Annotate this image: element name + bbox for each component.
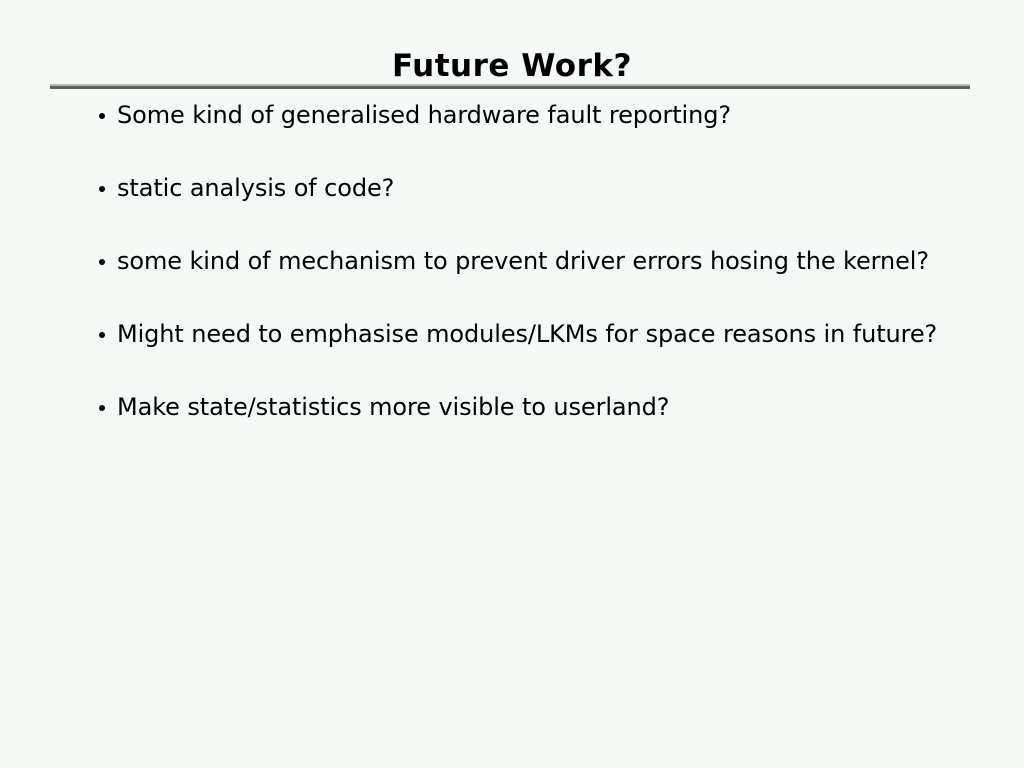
list-item: Might need to emphasise modules/LKMs for… bbox=[96, 319, 996, 392]
bullet-dot-icon bbox=[99, 332, 105, 338]
bullet-dot-icon bbox=[99, 113, 105, 119]
list-item-label: Make state/statistics more visible to us… bbox=[117, 392, 996, 422]
title-divider bbox=[50, 84, 970, 89]
list-item: Some kind of generalised hardware fault … bbox=[96, 100, 996, 173]
list-item: some kind of mechanism to prevent driver… bbox=[96, 246, 996, 319]
list-item-label: static analysis of code? bbox=[117, 173, 996, 203]
bullet-list: Some kind of generalised hardware fault … bbox=[96, 100, 996, 465]
list-item: Make state/statistics more visible to us… bbox=[96, 392, 996, 465]
bullet-dot-icon bbox=[99, 186, 105, 192]
bullet-dot-icon bbox=[99, 259, 105, 265]
list-item-label: some kind of mechanism to prevent driver… bbox=[117, 246, 996, 276]
divider-shadow bbox=[50, 86, 970, 89]
list-item: static analysis of code? bbox=[96, 173, 996, 246]
bullet-dot-icon bbox=[99, 405, 105, 411]
presentation-slide: Future Work? Some kind of generalised ha… bbox=[0, 0, 1024, 768]
list-item-label: Some kind of generalised hardware fault … bbox=[117, 100, 996, 130]
page-title: Future Work? bbox=[0, 47, 1024, 85]
list-item-label: Might need to emphasise modules/LKMs for… bbox=[117, 319, 996, 349]
